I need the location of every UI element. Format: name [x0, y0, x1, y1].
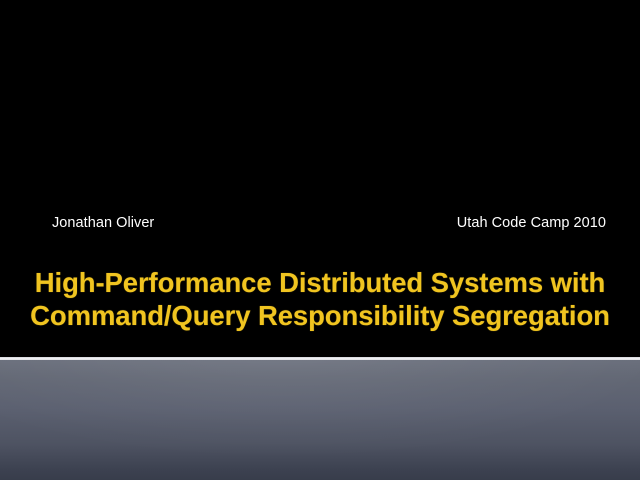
event-name: Utah Code Camp 2010 — [457, 210, 606, 236]
slide-footer-panel — [0, 360, 640, 480]
slide-meta-row: Jonathan Oliver Utah Code Camp 2010 — [0, 210, 640, 236]
footer-panel-sheen — [0, 360, 640, 480]
slide-title-line-2: Command/Query Responsibility Segregation — [0, 299, 640, 332]
slide-title: High-Performance Distributed Systems wit… — [0, 266, 640, 332]
title-slide: Jonathan Oliver Utah Code Camp 2010 High… — [0, 0, 640, 480]
slide-title-line-1: High-Performance Distributed Systems wit… — [0, 266, 640, 299]
presenter-name: Jonathan Oliver — [52, 210, 154, 236]
